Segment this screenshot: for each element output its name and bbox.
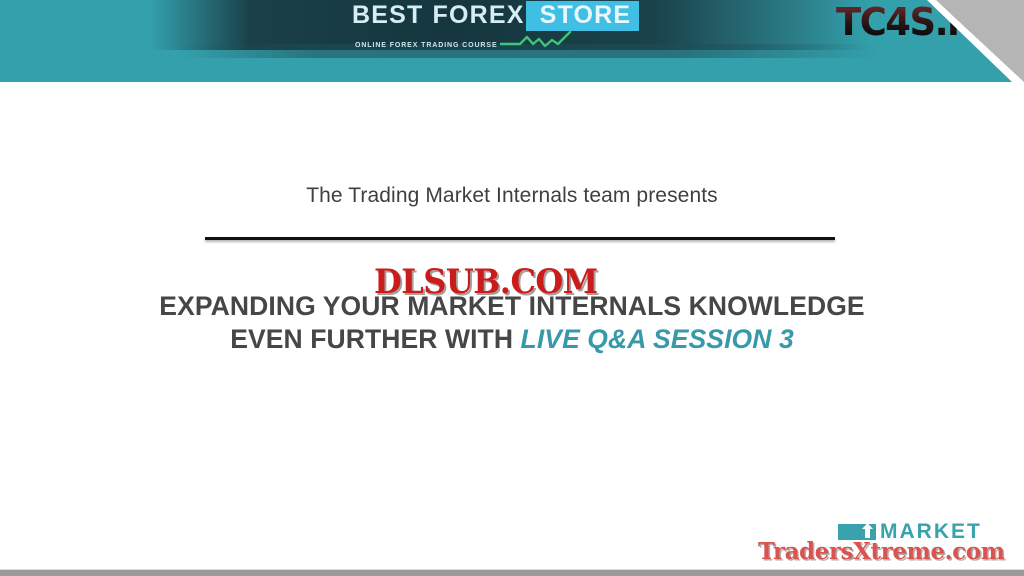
title-divider-rule (205, 237, 835, 240)
title-line-2-accent: LIVE Q&A SESSION 3 (521, 324, 794, 354)
best-forex-store-logo-tagline-row: ONLINE FOREX TRADING COURSE (355, 31, 660, 50)
dlsub-watermark: DLSUB.COM (374, 262, 598, 302)
best-forex-store-logo: BEST FOREX STORE ONLINE FOREX TRADING CO… (352, 2, 662, 48)
tradersxtreme-watermark: TradersXtreme.com (758, 538, 1005, 565)
logo-word-best: BEST (352, 2, 423, 29)
logo-word-forex: FOREX (432, 2, 524, 29)
title-line-2-prefix: EVEN FURTHER WITH (230, 324, 520, 354)
chart-line-icon (500, 31, 578, 54)
header-banner: BEST FOREX STORE ONLINE FOREX TRADING CO… (0, 0, 1024, 82)
title-line-2: EVEN FURTHER WITH LIVE Q&A SESSION 3 (0, 323, 1024, 356)
logo-tagline: ONLINE FOREX TRADING COURSE (355, 41, 498, 50)
footer-bar (0, 570, 1024, 576)
best-forex-store-logo-wordmark: BEST FOREX STORE (352, 2, 639, 29)
presentation-slide: BEST FOREX STORE ONLINE FOREX TRADING CO… (0, 0, 1024, 576)
presents-line: The Trading Market Internals team presen… (0, 184, 1024, 208)
logo-word-store: STORE (526, 1, 640, 31)
